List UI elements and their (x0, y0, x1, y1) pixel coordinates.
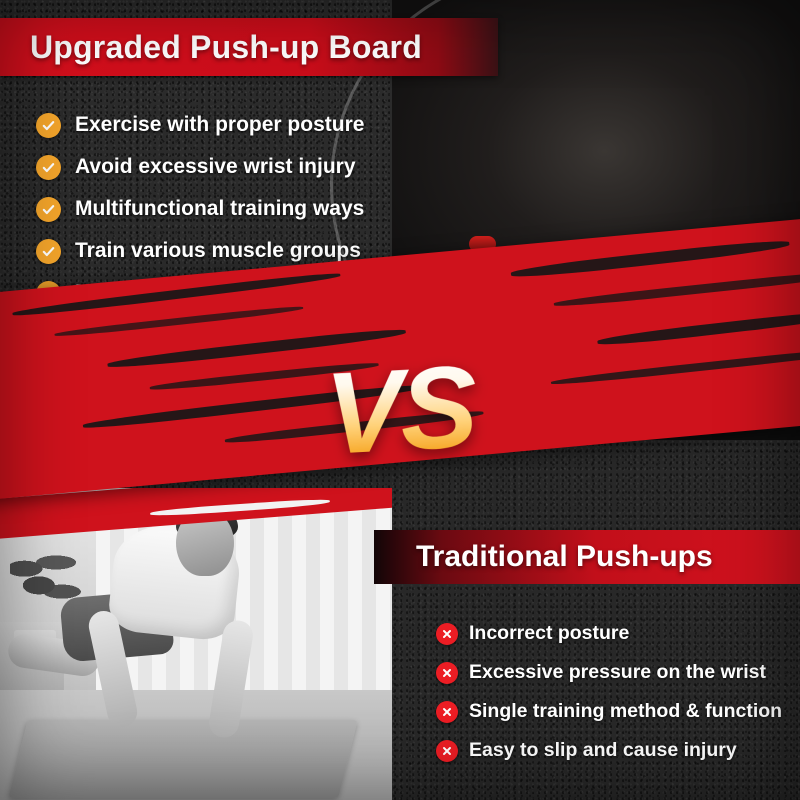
yoga-mat (8, 720, 357, 798)
grunge-streak (510, 238, 790, 281)
promo-comparison-graphic: Upgraded Push-up Board Exercise with pro… (0, 0, 800, 800)
list-item: Easy to slip and cause injury (436, 731, 796, 770)
x-circle-icon (436, 623, 458, 645)
cons-list: Incorrect posture Excessive pressure on … (436, 614, 796, 770)
traditional-pushups-section: Traditional Push-ups Incorrect posture E… (0, 440, 800, 800)
con-label: Excessive pressure on the wrist (469, 661, 766, 684)
bottom-lifestyle-photo (0, 488, 392, 800)
con-label: Easy to slip and cause injury (469, 739, 737, 762)
pro-label: Avoid excessive wrist injury (75, 155, 356, 179)
check-circle-icon (36, 197, 61, 222)
grunge-streak (553, 269, 800, 309)
check-circle-icon (36, 239, 61, 264)
list-item: Excessive pressure on the wrist (436, 653, 796, 692)
pro-label: Multifunctional training ways (75, 197, 364, 221)
pro-label: Exercise with proper posture (75, 113, 364, 137)
x-circle-icon (436, 662, 458, 684)
list-item: Multifunctional training ways (36, 188, 396, 230)
con-label: Single training method & function (469, 700, 782, 723)
list-item: Single training method & function (436, 692, 796, 731)
con-label: Incorrect posture (469, 622, 629, 645)
x-circle-icon (436, 701, 458, 723)
upgraded-board-banner: Upgraded Push-up Board (0, 18, 498, 76)
x-circle-icon (436, 740, 458, 762)
grunge-streak (54, 304, 303, 338)
list-item: Avoid excessive wrist injury (36, 146, 396, 188)
list-item: Exercise with proper posture (36, 104, 396, 146)
check-circle-icon (36, 155, 61, 180)
check-circle-icon (36, 113, 61, 138)
pro-label: Train various muscle groups (75, 239, 361, 263)
traditional-pushups-banner: Traditional Push-ups (374, 530, 800, 584)
upgraded-board-title: Upgraded Push-up Board (30, 29, 422, 66)
list-item: Incorrect posture (436, 614, 796, 653)
traditional-pushups-title: Traditional Push-ups (416, 540, 713, 574)
